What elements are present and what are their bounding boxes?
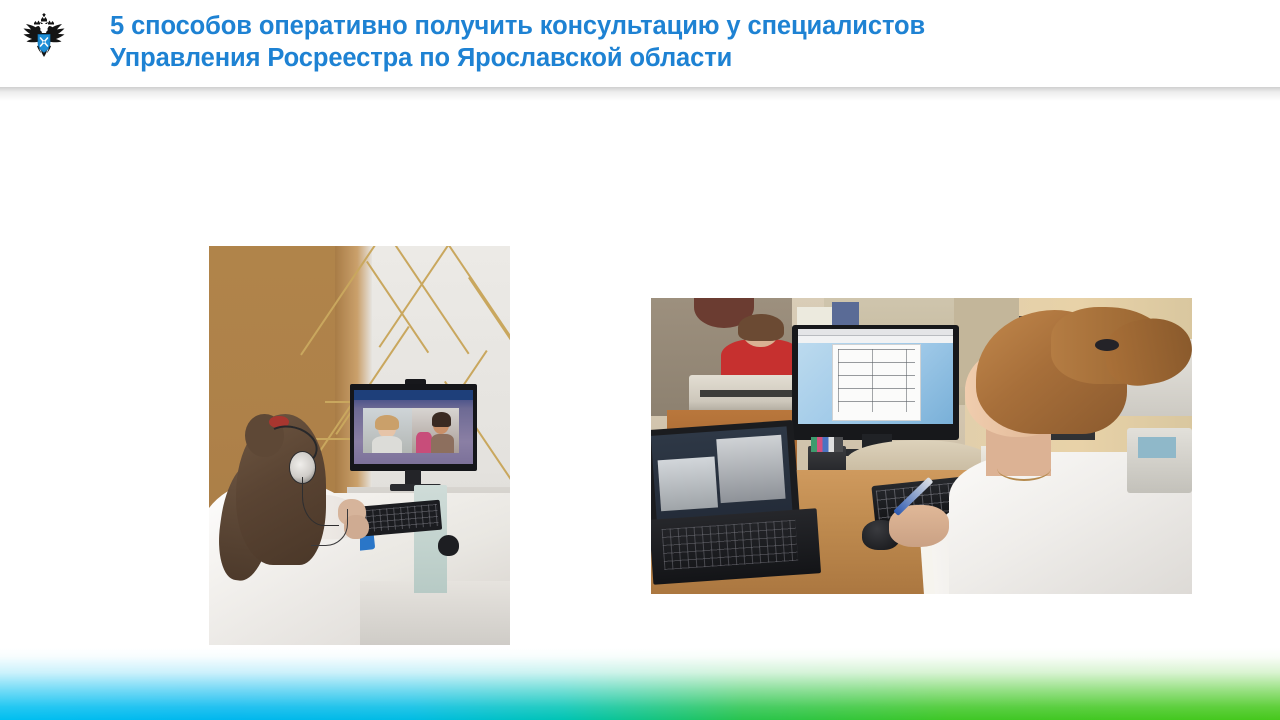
- photo-specialist-office-consultation: [651, 298, 1192, 594]
- video-participant-tile: [657, 457, 718, 511]
- photo-laptop-base: [651, 508, 821, 585]
- photo-monitor-taskbar: [354, 390, 473, 400]
- video-participant-tile: [716, 435, 786, 504]
- photo-video-call-window: [363, 408, 459, 453]
- photo-girl-video-consultation: [209, 246, 510, 645]
- video-participant-tile: [412, 408, 459, 453]
- video-participant-tile: [363, 408, 412, 453]
- photo-background-colleague-hair: [738, 314, 784, 341]
- photo-monitor-menubar: [798, 329, 953, 336]
- participant-body: [431, 434, 454, 453]
- participant-hair: [432, 412, 452, 427]
- photo-person-hand: [344, 515, 368, 539]
- photo-pens: [811, 437, 843, 452]
- participant-hair: [375, 415, 399, 430]
- photo-mouse: [438, 535, 459, 556]
- slide-header: 5 способов оперативно получить консульта…: [0, 0, 1280, 87]
- laptop-keyboard-keys: [661, 520, 798, 570]
- footer-gradient-bar: [0, 648, 1280, 720]
- rosreestr-double-headed-eagle-emblem-icon: [19, 11, 69, 61]
- page-title: 5 способов оперативно получить консульта…: [110, 10, 1230, 74]
- photo-specialist-necklace: [997, 455, 1051, 481]
- photo-monitor-toolbar: [798, 336, 953, 343]
- participant-body: [372, 436, 402, 453]
- keyboard-keys: [365, 504, 439, 533]
- footer-gradient-white-fade: [0, 648, 1280, 720]
- document-table-grid: [838, 349, 915, 412]
- photo-office-device-display: [1138, 437, 1176, 458]
- participant-body: [416, 432, 432, 453]
- photo-document-on-screen: [832, 344, 921, 421]
- photo-printer-slot: [700, 390, 792, 397]
- header-drop-shadow: [0, 87, 1280, 101]
